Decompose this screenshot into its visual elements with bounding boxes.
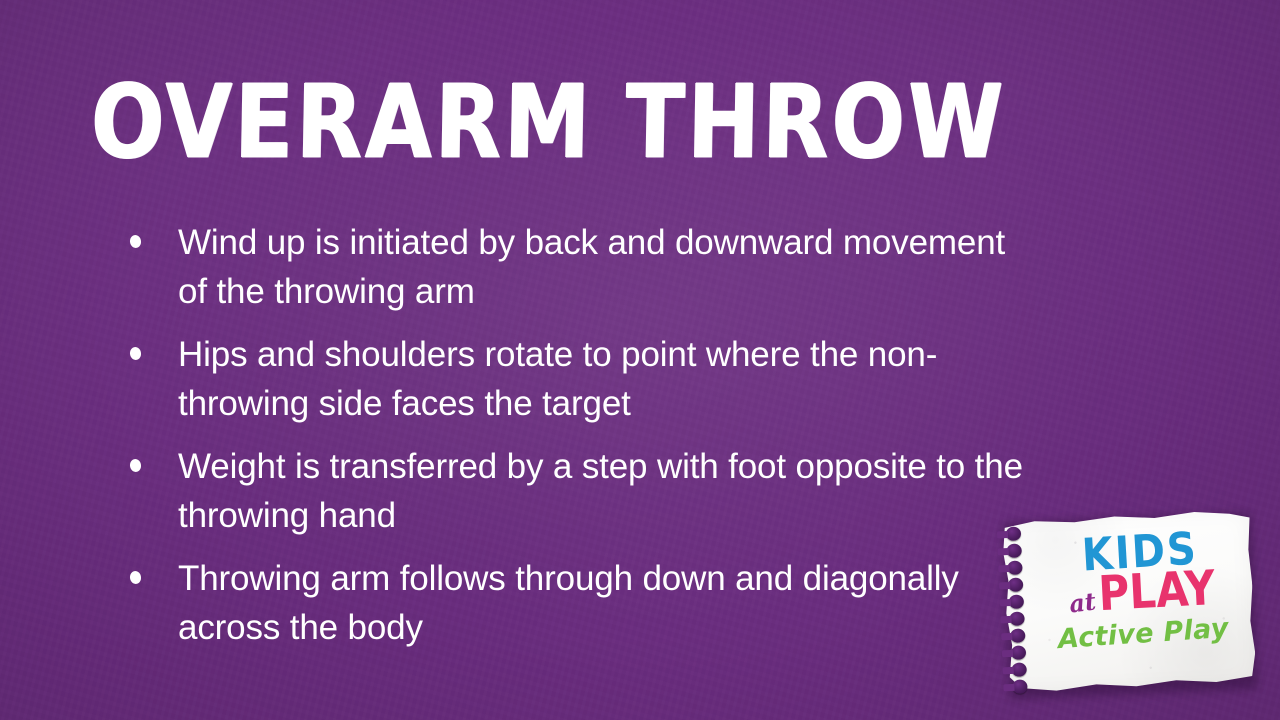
bullet-dot-icon [129, 570, 142, 584]
bullet-text: Throwing arm follows through down and di… [178, 554, 1030, 652]
spiral-binding-icon [998, 526, 1039, 689]
bullet-dot-icon [129, 234, 142, 248]
bullet-text: Hips and shoulders rotate to point where… [178, 330, 1030, 428]
bullet-text: Weight is transferred by a step with foo… [178, 442, 1030, 540]
presentation-slide: OVERARM THROW Wind up is initiated by ba… [0, 0, 1280, 720]
bullet-list: Wind up is initiated by back and downwar… [130, 218, 1030, 666]
bullet-text: Wind up is initiated by back and downwar… [178, 218, 1030, 316]
slide-title: OVERARM THROW [90, 72, 1006, 173]
bullet-dot-icon [129, 458, 142, 472]
list-item: Wind up is initiated by back and downwar… [130, 218, 1030, 316]
logo-play-text: PLAY [1097, 564, 1216, 618]
list-item: Throwing arm follows through down and di… [130, 554, 1030, 652]
logo-at-text: at [1067, 586, 1097, 618]
logo-wordmark: KIDS at PLAY Active Play [1036, 519, 1248, 681]
bullet-dot-icon [129, 346, 142, 360]
kids-at-play-logo: KIDS at PLAY Active Play [999, 507, 1258, 699]
list-item: Weight is transferred by a step with foo… [130, 442, 1030, 540]
logo-tagline: Active Play [1040, 613, 1248, 657]
list-item: Hips and shoulders rotate to point where… [130, 330, 1030, 428]
